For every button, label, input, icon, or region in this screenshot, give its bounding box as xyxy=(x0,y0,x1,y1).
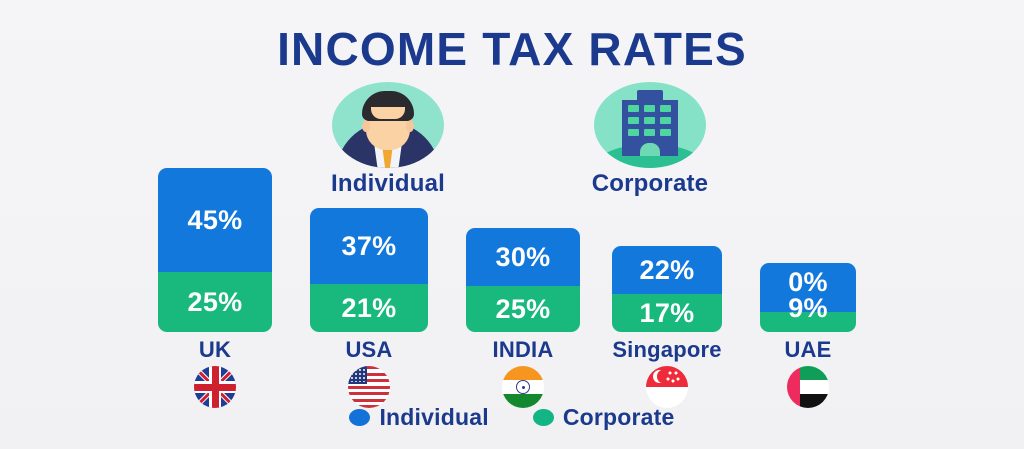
country-usa: USA xyxy=(294,337,444,408)
bar-value-individual-usa: 37% xyxy=(342,233,397,260)
category-label-corporate: Corporate xyxy=(560,170,740,198)
country-label-uk: UK xyxy=(140,337,290,363)
bar-value-corporate-uk: 25% xyxy=(188,289,243,316)
bar-value-individual-singapore: 22% xyxy=(640,257,695,284)
bar-segment-corporate-usa: 21% xyxy=(310,284,428,332)
chart-legend: Individual Corporate xyxy=(0,404,1024,431)
category-label-individual: Individual xyxy=(298,170,478,198)
country-label-usa: USA xyxy=(294,337,444,363)
bar-singapore[interactable]: 22% 17% xyxy=(612,246,722,332)
green-circle-icon xyxy=(533,409,554,426)
india-flag-icon xyxy=(502,366,544,408)
country-india: INDIA xyxy=(448,337,598,408)
legend-item-corporate[interactable]: Corporate xyxy=(533,404,675,431)
bar-uk[interactable]: 45% 25% xyxy=(158,168,272,332)
bar-segment-individual-india: 30% xyxy=(466,228,580,286)
office-building-icon xyxy=(594,82,706,168)
bar-value-individual-uae: 0% xyxy=(760,269,856,296)
bar-segment-individual-singapore: 22% xyxy=(612,246,722,294)
uae-flag-icon xyxy=(787,366,829,408)
person-avatar-icon xyxy=(332,82,444,168)
bar-value-corporate-singapore: 17% xyxy=(640,300,695,327)
country-label-singapore: Singapore xyxy=(592,337,742,363)
usa-flag-icon xyxy=(348,366,390,408)
bar-value-corporate-india: 25% xyxy=(496,296,551,323)
uk-flag-icon xyxy=(194,366,236,408)
bar-value-corporate-uae: 9% xyxy=(760,295,856,322)
legend-item-individual[interactable]: Individual xyxy=(349,404,488,431)
bar-segment-individual-usa: 37% xyxy=(310,208,428,284)
bar-segment-individual-uk: 45% xyxy=(158,168,272,272)
bar-value-individual-uk: 45% xyxy=(188,207,243,234)
category-corporate: Corporate xyxy=(560,82,740,198)
bar-segment-corporate-india: 25% xyxy=(466,286,580,332)
country-singapore: Singapore xyxy=(592,337,742,408)
blue-circle-icon xyxy=(349,409,370,426)
country-label-uae: UAE xyxy=(733,337,883,363)
country-uae: UAE xyxy=(733,337,883,408)
singapore-flag-icon xyxy=(646,366,688,408)
bar-india[interactable]: 30% 25% xyxy=(466,228,580,332)
page-title: INCOME TAX RATES xyxy=(0,22,1024,76)
category-individual: Individual xyxy=(298,82,478,198)
bar-value-individual-india: 30% xyxy=(496,244,551,271)
bar-uae[interactable]: 0% 9% xyxy=(760,263,856,332)
country-uk: UK xyxy=(140,337,290,408)
legend-label-individual: Individual xyxy=(379,404,488,431)
bar-value-corporate-usa: 21% xyxy=(342,295,397,322)
infographic-canvas: INCOME TAX RATES Individual xyxy=(0,0,1024,449)
bar-segment-corporate-uk: 25% xyxy=(158,272,272,332)
bar-segment-corporate-uae: 9% xyxy=(760,312,856,332)
bar-usa[interactable]: 37% 21% xyxy=(310,208,428,332)
bar-segment-corporate-singapore: 17% xyxy=(612,294,722,332)
country-label-india: INDIA xyxy=(448,337,598,363)
legend-label-corporate: Corporate xyxy=(563,404,675,431)
